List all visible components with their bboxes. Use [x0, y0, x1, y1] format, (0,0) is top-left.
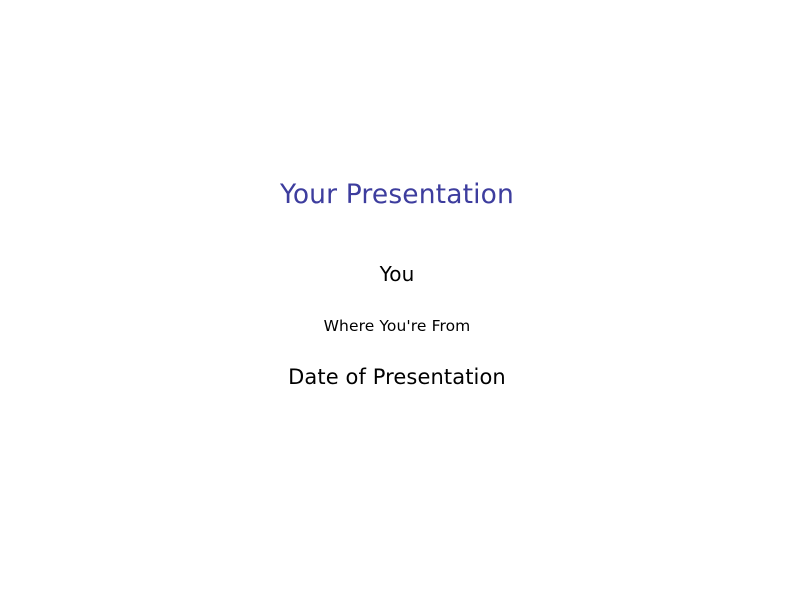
presentation-slide: Your Presentation You Where You're From … — [0, 0, 794, 597]
presentation-title: Your Presentation — [0, 179, 794, 211]
presentation-date: Date of Presentation — [0, 365, 794, 390]
presentation-author: You — [0, 262, 794, 286]
presentation-institute: Where You're From — [0, 317, 794, 336]
